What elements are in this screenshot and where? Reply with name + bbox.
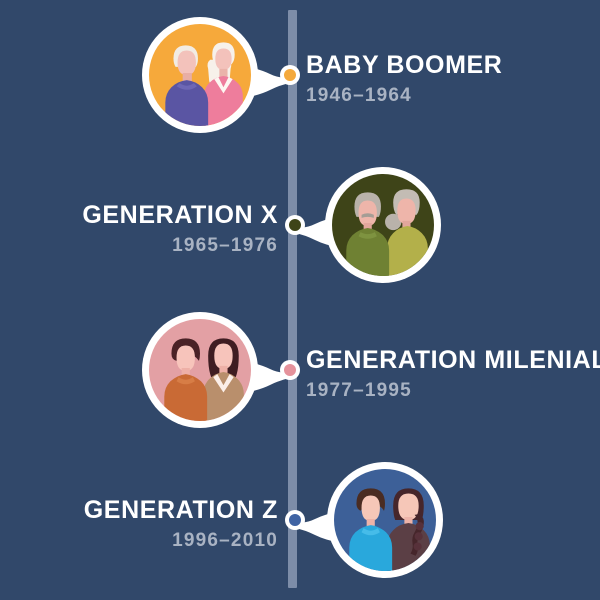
entry-label-generation-z: GENERATION Z 1996–2010: [0, 498, 278, 550]
entry-title: GENERATION Z: [0, 498, 278, 523]
entry-years: 1946–1964: [306, 86, 502, 105]
entry-title: GENERATION MILENIAL: [306, 348, 600, 373]
connector-dot-core: [284, 364, 296, 376]
connector-dot-core: [289, 514, 301, 526]
infographic-canvas: BABY BOOMER 1946–1964: [0, 0, 600, 600]
portrait-illustration-generation-x: [332, 174, 434, 276]
entry-years: 1977–1995: [306, 381, 600, 400]
entry-title: BABY BOOMER: [306, 53, 502, 78]
portrait-disc: [334, 469, 436, 571]
entry-years: 1996–2010: [0, 531, 278, 550]
portrait-medallion-baby-boomer[interactable]: [142, 17, 258, 133]
portrait-medallion-generation-milenial[interactable]: [142, 312, 258, 428]
entry-years: 1965–1976: [0, 236, 278, 255]
entry-label-generation-x: GENERATION X 1965–1976: [0, 203, 278, 255]
portrait-disc: [149, 24, 251, 126]
entry-label-generation-milenial: GENERATION MILENIAL 1977–1995: [306, 348, 600, 400]
portrait-disc: [149, 319, 251, 421]
portrait-medallion-generation-x[interactable]: [325, 167, 441, 283]
portrait-illustration-generation-z: [334, 469, 436, 571]
portrait-illustration-baby-boomer: [149, 24, 251, 126]
connector-dot-core: [289, 219, 301, 231]
portrait-medallion-generation-z[interactable]: [327, 462, 443, 578]
entry-label-baby-boomer: BABY BOOMER 1946–1964: [306, 53, 502, 105]
connector-dot-core: [284, 69, 296, 81]
entry-title: GENERATION X: [0, 203, 278, 228]
portrait-disc: [332, 174, 434, 276]
portrait-illustration-generation-milenial: [149, 319, 251, 421]
timeline-axis-line: [288, 10, 297, 588]
